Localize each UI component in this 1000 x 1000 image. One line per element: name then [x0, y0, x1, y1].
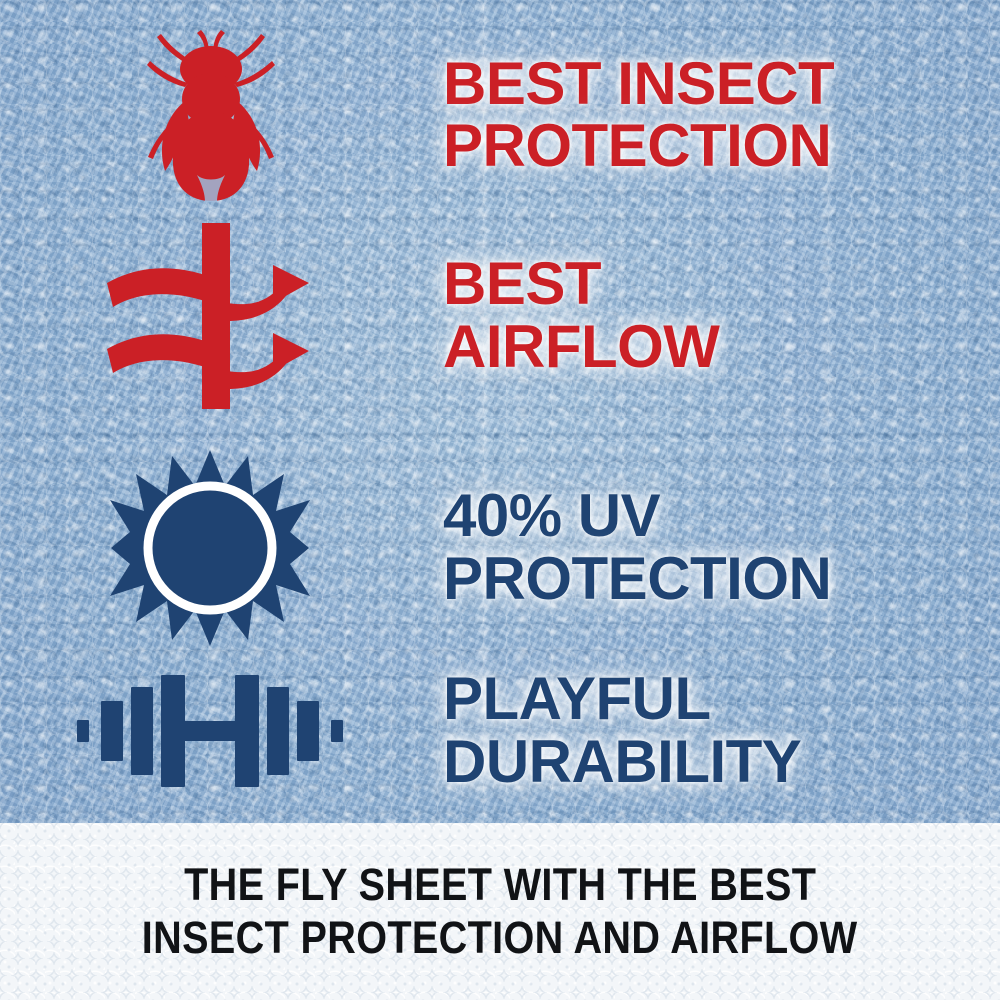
caption-panel: THE FLY SHEET WITH THE BEST INSECT PROTE… [0, 823, 1000, 1000]
feature-label-durability-line2: DURABILITY [443, 731, 1000, 793]
icon-cell-uv [0, 448, 420, 648]
feature-label-airflow-line1: BEST [443, 253, 1000, 315]
text-cell-uv: 40% UV PROTECTION [420, 485, 1000, 610]
text-cell-insect: BEST INSECT PROTECTION [420, 53, 1000, 178]
icon-cell-insect [0, 25, 420, 205]
feature-row-uv-protection: 40% UV PROTECTION [0, 440, 1000, 655]
feature-label-insect-line2: PROTECTION [443, 115, 1000, 177]
feature-label-uv-line1: 40% UV [443, 485, 1000, 547]
icon-cell-durability [0, 661, 420, 801]
feature-row-durability: PLAYFUL DURABILITY [0, 648, 1000, 813]
feature-label-durability-line1: PLAYFUL [443, 668, 1000, 730]
feature-row-insect-protection: BEST INSECT PROTECTION [0, 20, 1000, 210]
product-feature-infographic: BEST INSECT PROTECTION [0, 0, 1000, 1000]
caption-line-1: THE FLY SHEET WITH THE BEST [184, 859, 816, 911]
text-cell-durability: PLAYFUL DURABILITY [420, 668, 1000, 793]
text-cell-airflow: BEST AIRFLOW [420, 253, 1000, 378]
fly-icon [135, 25, 285, 205]
caption-line-2: INSECT PROTECTION AND AIRFLOW [142, 912, 858, 964]
feature-label-insect-line1: BEST INSECT [443, 53, 1000, 115]
feature-label-uv-line2: PROTECTION [443, 548, 1000, 610]
feature-label-airflow-line2: AIRFLOW [443, 316, 1000, 378]
feature-row-airflow: BEST AIRFLOW [0, 218, 1000, 413]
sun-icon [110, 448, 310, 648]
dumbbell-icon [75, 661, 345, 801]
airflow-arrows-icon [95, 221, 325, 411]
icon-cell-airflow [0, 221, 420, 411]
